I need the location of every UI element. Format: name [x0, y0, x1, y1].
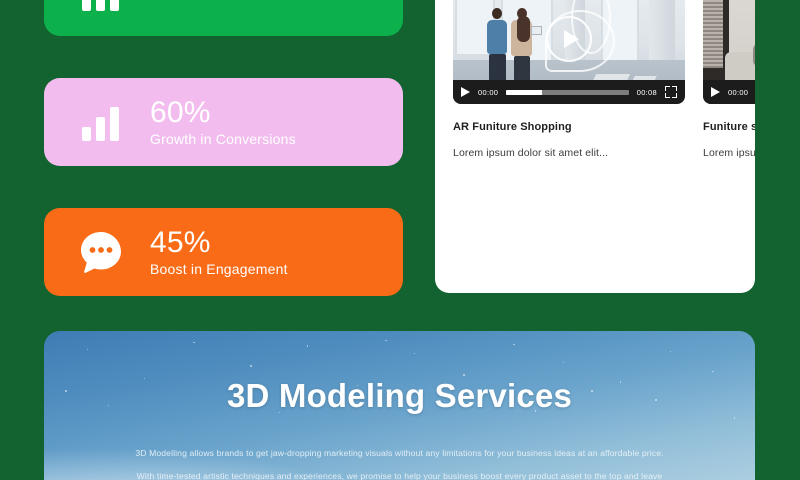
chat-bubble-icon — [74, 225, 128, 279]
duration-time: 00:08 — [637, 88, 657, 97]
play-icon[interactable] — [461, 87, 470, 97]
bar-chart-icon — [74, 95, 128, 149]
progress-fill — [506, 90, 542, 95]
hero-sky-panel: 3D Modeling Services 3D Modelling allows… — [44, 331, 755, 480]
stat-text: 60% Growth in Conversions — [150, 96, 296, 148]
stat-label: Increase in Website Traffic — [150, 0, 320, 1]
video-row: 00:00 00:08 AR Funiture Shopping Lorem i… — [453, 0, 737, 159]
current-time: 00:00 — [728, 88, 748, 97]
stat-value: 45% — [150, 226, 288, 260]
stat-value: 60% — [150, 96, 296, 130]
video-gallery-panel: 00:00 00:08 AR Funiture Shopping Lorem i… — [435, 0, 755, 293]
stat-card-conversions[interactable]: 60% Growth in Conversions — [44, 78, 403, 166]
stat-label: Boost in Engagement — [150, 260, 288, 278]
video-controls[interactable]: 00:00 — [703, 80, 755, 104]
current-time: 00:00 — [478, 88, 498, 97]
stat-card-engagement[interactable]: 45% Boost in Engagement — [44, 208, 403, 296]
stat-text: 45% Boost in Engagement — [150, 226, 288, 278]
hero-title: 3D Modeling Services — [44, 377, 755, 415]
stats-column: Increase in Website Traffic 60% Growth i… — [44, 0, 403, 338]
video-card-ar-furniture-shopping[interactable]: 00:00 00:08 AR Funiture Shopping Lorem i… — [453, 0, 685, 159]
stat-text: Increase in Website Traffic — [150, 0, 320, 1]
video-description: Lorem ipsum — [703, 147, 755, 159]
video-controls[interactable]: 00:00 00:08 — [453, 80, 685, 104]
video-card-furniture-showcase[interactable]: 00:00 Funiture sho Lorem ipsum — [703, 0, 755, 159]
video-thumbnail[interactable]: 00:00 00:08 — [453, 0, 685, 104]
bar-chart-icon — [74, 0, 128, 19]
progress-slider[interactable] — [506, 90, 628, 95]
video-thumbnail[interactable]: 00:00 — [703, 0, 755, 104]
play-button-overlay[interactable] — [546, 16, 592, 62]
video-title: AR Funiture Shopping — [453, 121, 685, 133]
hero-paragraph-2: With time-tested artistic techniques and… — [44, 471, 755, 480]
video-description: Lorem ipsum dolor sit amet elit... — [453, 147, 685, 159]
play-triangle-icon — [564, 30, 579, 48]
play-icon[interactable] — [711, 87, 720, 97]
stat-label: Growth in Conversions — [150, 130, 296, 148]
hero-paragraph-1: 3D Modelling allows brands to get jaw-dr… — [44, 448, 755, 458]
fullscreen-icon[interactable] — [665, 86, 677, 98]
video-title: Funiture sho — [703, 121, 755, 133]
stat-card-website-traffic[interactable]: Increase in Website Traffic — [44, 0, 403, 36]
